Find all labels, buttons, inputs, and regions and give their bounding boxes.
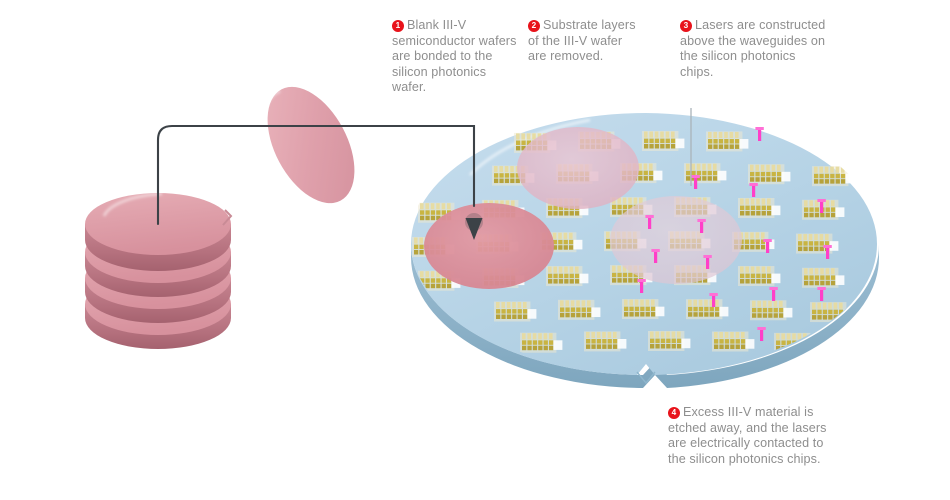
chip-block (712, 332, 754, 352)
chip-block (686, 299, 728, 319)
step-badge-2: 2 (528, 20, 540, 32)
chip-block (648, 331, 690, 351)
step-badge-4: 4 (668, 407, 680, 419)
chip-block (706, 131, 748, 151)
caption-step-4: 4Excess III-V material is etched away, a… (668, 405, 840, 467)
chip-block (796, 234, 838, 254)
chip-block (642, 131, 684, 151)
chip-block (494, 302, 536, 322)
caption-step-4-text: Excess III-V material is etched away, an… (668, 405, 827, 466)
caption-step-3-text: Lasers are constructed above the wavegui… (680, 18, 825, 79)
chip-block (738, 266, 780, 286)
chip-block (802, 268, 844, 288)
overlay-step1-bonded-wafer (424, 203, 554, 289)
chip-block (750, 300, 792, 320)
infographic-canvas: 1Blank III-V semiconductor wafers are bo… (0, 0, 950, 500)
caption-step-2-text: Substrate layers of the III-V wafer are … (528, 18, 636, 63)
caption-step-1-text: Blank III-V semiconductor wafers are bon… (392, 18, 517, 94)
chip-block (622, 299, 664, 319)
caption-step-2: 2Substrate layers of the III-V wafer are… (528, 18, 638, 65)
chip-block (748, 164, 790, 184)
chip-block (584, 331, 626, 351)
chip-block (520, 333, 562, 353)
overlay-step2-substrate-removed (517, 127, 639, 209)
step-badge-3: 3 (680, 20, 692, 32)
tilted-iii-v-wafer (250, 72, 373, 217)
silicon-photonics-wafer (411, 113, 879, 388)
step-badge-1: 1 (392, 20, 404, 32)
caption-step-3: 3Lasers are constructed above the wavegu… (680, 18, 828, 80)
overlay-step3-lasers-built (610, 196, 742, 284)
chip-block (546, 266, 588, 286)
caption-step-1: 1Blank III-V semiconductor wafers are bo… (392, 18, 520, 96)
chip-block (738, 198, 780, 218)
chip-block (558, 300, 600, 320)
chip-block (812, 166, 854, 186)
